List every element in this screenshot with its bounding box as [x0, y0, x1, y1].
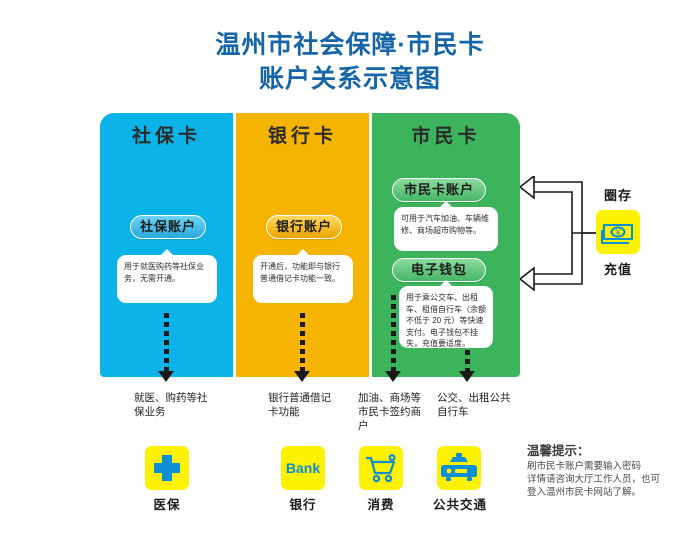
flow-arrowhead-citizen-merchant [385, 371, 401, 382]
banknote-icon: ¥ [596, 210, 640, 254]
taxi-icon [437, 446, 481, 490]
column-header-citizen: 市民卡 [372, 113, 520, 160]
tip-block: 温馨提示： 刷市民卡账户需要输入密码 详情请咨询大厅工作人员，也可 登入温州市民… [527, 443, 699, 499]
infographic-canvas: 温州市社会保障·市民卡 账户关系示意图 社保卡 社保账户 用于就医购药等社保业务… [0, 0, 700, 537]
flow-line-stem [465, 350, 470, 371]
column-header-shebao: 社保卡 [100, 113, 233, 160]
flow-line-public-transit [465, 350, 470, 371]
arrowhead-to-electronic-wallet [520, 268, 534, 290]
arrowhead-to-citizen-account [520, 176, 534, 198]
tile-label-bank: 银行 [273, 494, 333, 513]
title-line-2: 账户关系示意图 [0, 62, 700, 96]
page-title: 温州市社会保障·市民卡 账户关系示意图 [0, 28, 700, 96]
callout-shebao-account: 用于就医购药等社保业务，无需开通。 [117, 255, 217, 303]
flow-caption-bank: 银行普通借记卡功能 [268, 391, 336, 419]
column-header-bank: 银行卡 [236, 113, 369, 160]
shopping-cart-icon [359, 446, 403, 490]
tile-label-consumption: 消费 [351, 494, 411, 513]
tip-title: 温馨提示： [527, 443, 699, 460]
pill-shebao-account[interactable]: 社保账户 [130, 215, 206, 239]
bank-text-icon: Bank [281, 446, 325, 490]
pill-electronic-wallet[interactable]: 电子钱包 [392, 258, 486, 282]
pill-citizen-account[interactable]: 市民卡账户 [392, 178, 486, 202]
flow-line-stem [391, 295, 396, 371]
flow-caption-public-transit: 公交、出租公共自行车 [437, 391, 511, 419]
tip-line-2: 详情请咨询大厅工作人员，也可 [527, 473, 699, 486]
flow-line-citizen-merchant [391, 295, 396, 371]
tile-label-public-transit: 公共交通 [427, 494, 493, 513]
flow-arrowhead-public-transit [459, 371, 475, 382]
title-line-1: 温州市社会保障·市民卡 [0, 28, 700, 62]
pill-bank-account[interactable]: 银行账户 [266, 215, 342, 239]
flow-caption-shebao: 就医、购药等社保业务 [134, 391, 208, 419]
flow-line-shebao [164, 313, 169, 371]
svg-text:Bank: Bank [286, 460, 320, 476]
flow-arrowhead-shebao [158, 371, 174, 382]
flow-line-bank [300, 313, 305, 371]
callout-citizen-account: 可用于汽车加油、车辆维修、商场超市购物等。 [394, 207, 498, 251]
medical-cross-icon [145, 446, 189, 490]
flow-line-stem [164, 313, 169, 371]
recharge-bottom-label: 充值 [583, 259, 653, 278]
callout-electronic-wallet: 用于乘公交车、出租车、租借自行车（余额不低于 20 元）等快速支付。电子钱包不挂… [399, 286, 493, 348]
flow-arrowhead-bank [294, 371, 310, 382]
callout-bank-account: 开通后，功能即与银行普通借记卡功能一致。 [253, 255, 353, 303]
flow-caption-citizen-merchant: 加油、商场等市民卡签约商户 [358, 391, 428, 433]
svg-text:¥: ¥ [615, 228, 621, 237]
recharge-top-label: 圈存 [583, 185, 653, 204]
flow-line-stem [300, 313, 305, 371]
tile-label-medical: 医保 [137, 494, 197, 513]
tip-line-3: 登入温州市民卡网站了解。 [527, 486, 699, 499]
tip-line-1: 刷市民卡账户需要输入密码 [527, 460, 699, 473]
